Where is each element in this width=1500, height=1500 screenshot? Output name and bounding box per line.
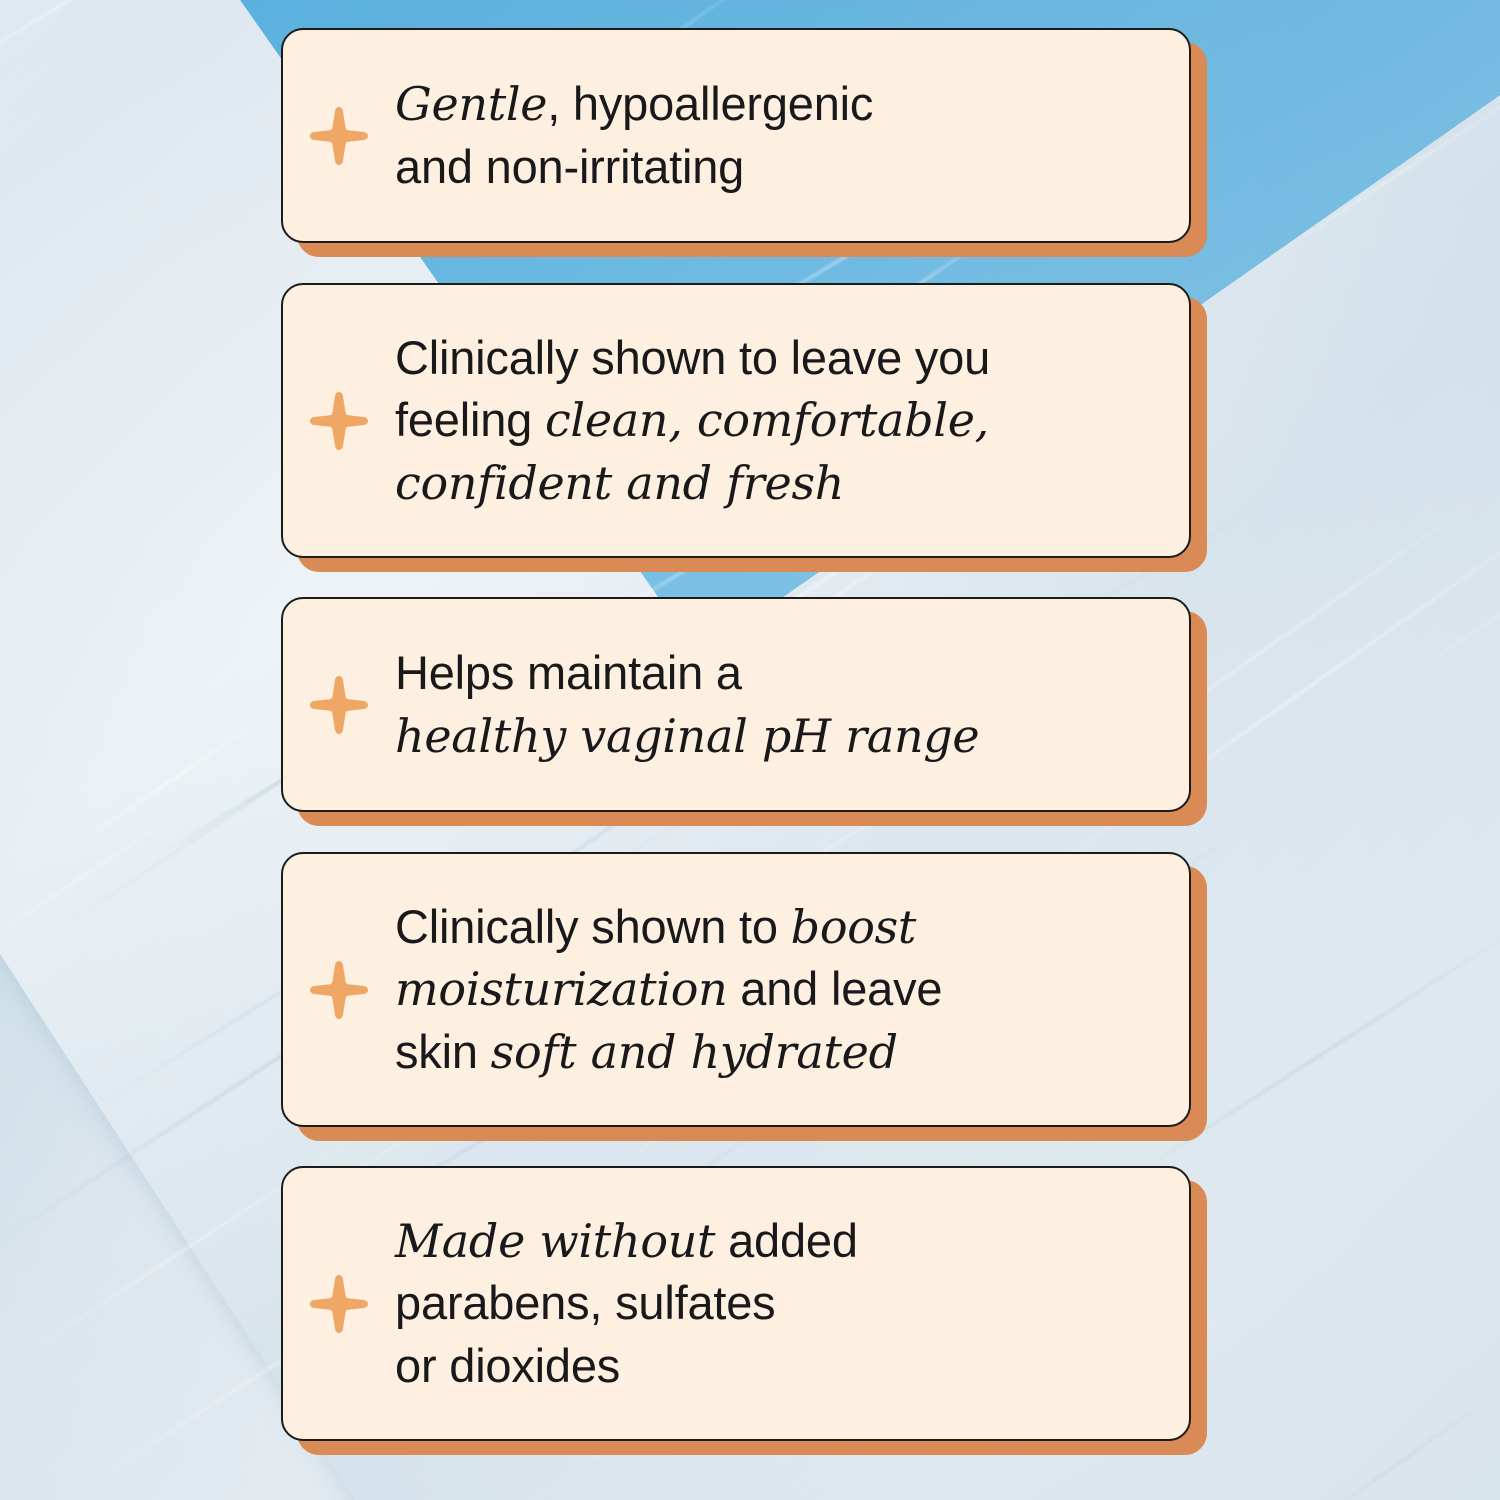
plain-text: skin [395,1025,491,1078]
plain-text: added [715,1214,858,1267]
emphasis-text: healthy vaginal pH range [395,709,979,763]
card-body: Clinically shown to leave youfeeling cle… [281,283,1191,558]
benefit-text-line: Gentle, hypoallergenic [395,73,1155,135]
emphasis-text: boost [791,900,916,954]
benefit-text-line: confident and fresh [395,452,1155,514]
benefit-text-line: or dioxides [395,1335,1155,1397]
plain-text: Helps maintain a [395,646,742,699]
benefit-card-made-without: Made without addedparabens, sulfatesor d… [281,1166,1191,1441]
card-body: Gentle, hypoallergenicand non-irritating [281,28,1191,243]
promo-graphic: Gentle, hypoallergenicand non-irritating… [0,0,1500,1500]
benefit-text: Made without addedparabens, sulfatesor d… [395,1210,1189,1396]
benefit-card-gentle: Gentle, hypoallergenicand non-irritating [281,28,1191,243]
benefit-text: Clinically shown to boostmoisturization … [395,896,1189,1082]
plain-text: and non-irritating [395,140,744,193]
benefit-text-line: Helps maintain a [395,642,1155,704]
benefit-text: Gentle, hypoallergenicand non-irritating [395,73,1189,197]
benefit-text-line: moisturization and leave [395,958,1155,1020]
plus-icon [283,1273,395,1335]
plain-text: Clinically shown to leave you [395,331,990,384]
benefit-text-line: healthy vaginal pH range [395,705,1155,767]
plain-text: Clinically shown to [395,900,791,953]
plain-text: , hypoallergenic [547,77,873,130]
plain-text: or dioxides [395,1339,620,1392]
benefit-text: Clinically shown to leave youfeeling cle… [395,327,1189,513]
plain-text: feeling [395,393,545,446]
benefit-text-line: Clinically shown to leave you [395,327,1155,389]
card-body: Helps maintain ahealthy vaginal pH range [281,597,1191,812]
card-body: Made without addedparabens, sulfatesor d… [281,1166,1191,1441]
benefit-text-line: Made without added [395,1210,1155,1272]
benefit-card-ph-range: Helps maintain ahealthy vaginal pH range [281,597,1191,812]
benefit-text-line: and non-irritating [395,136,1155,198]
benefit-text-line: skin soft and hydrated [395,1021,1155,1083]
plus-icon [283,105,395,167]
benefit-text-line: parabens, sulfates [395,1272,1155,1334]
emphasis-text: Made without [395,1214,715,1268]
emphasis-text: confident and fresh [395,456,844,510]
emphasis-text: clean, comfortable, [545,393,989,447]
plus-icon [283,959,395,1021]
benefit-text: Helps maintain ahealthy vaginal pH range [395,642,1189,766]
plus-icon [283,674,395,736]
benefit-card-moisturization: Clinically shown to boostmoisturization … [281,852,1191,1127]
emphasis-text: Gentle [395,77,547,131]
card-body: Clinically shown to boostmoisturization … [281,852,1191,1127]
benefit-text-line: Clinically shown to boost [395,896,1155,958]
plain-text: parabens, sulfates [395,1276,775,1329]
plain-text: and leave [727,962,942,1015]
emphasis-text: moisturization [395,962,727,1016]
benefit-card-list: Gentle, hypoallergenicand non-irritating… [0,0,1500,1500]
benefit-text-line: feeling clean, comfortable, [395,389,1155,451]
benefit-card-clean-comfortable: Clinically shown to leave youfeeling cle… [281,283,1191,558]
plus-icon [283,390,395,452]
emphasis-text: soft and hydrated [491,1025,898,1079]
